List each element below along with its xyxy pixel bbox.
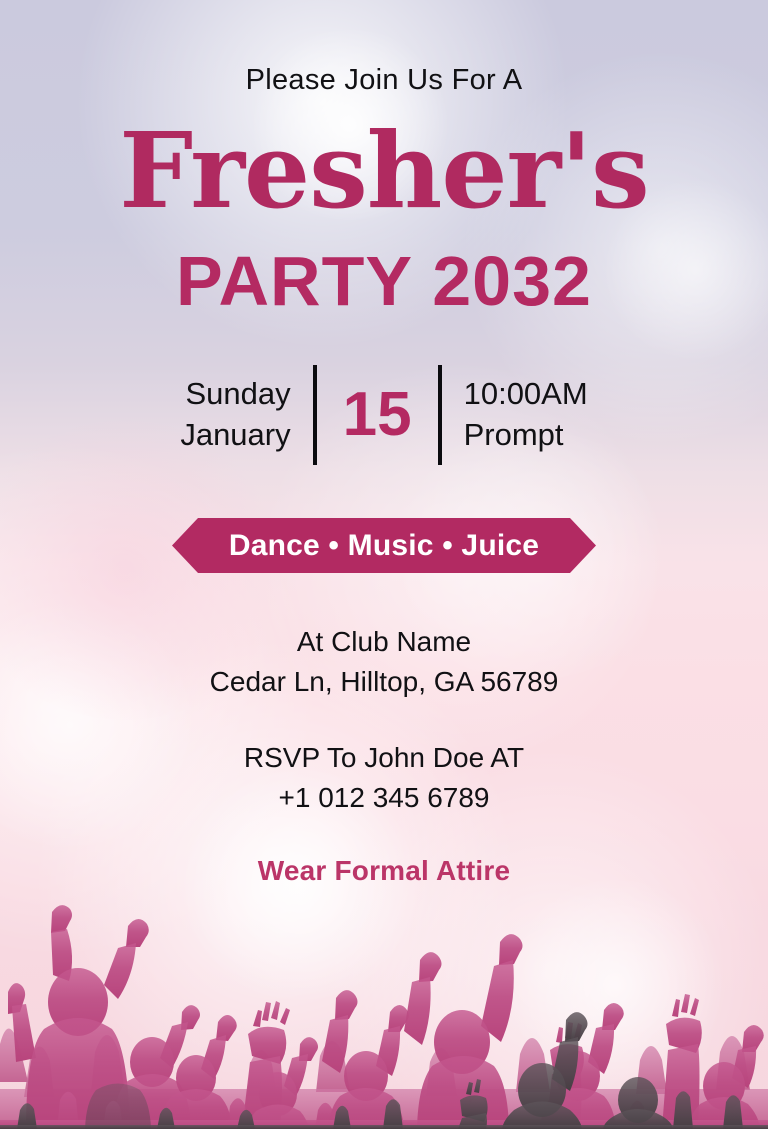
title-party-year: PARTY 2032 [0,246,768,316]
date-day-month: Sunday January [180,374,290,456]
date-month: January [180,415,290,456]
rsvp-phone: +1 012 345 6789 [0,778,768,818]
date-day-name: Sunday [180,374,290,415]
rsvp-contact: RSVP To John Doe AT [0,738,768,778]
activities-ribbon-label: Dance • Music • Juice [229,529,539,563]
activities-ribbon: Dance • Music • Juice [172,518,596,573]
event-time: 10:00AM [464,374,588,415]
pre-title: Please Join Us For A [0,64,768,97]
event-time-note: Prompt [464,415,588,456]
date-time-block: 10:00AM Prompt [464,374,588,456]
page-title: Fresher's [0,116,768,225]
venue-address: Cedar Ln, Hilltop, GA 56789 [0,662,768,702]
invitation-poster: Please Join Us For A Fresher's PARTY 203… [0,0,768,1129]
dress-code: Wear Formal Attire [0,855,768,887]
date-strip: Sunday January 15 10:00AM Prompt [0,365,768,465]
date-divider-right [438,365,442,465]
venue-name: At Club Name [0,622,768,662]
date-divider-left [313,365,317,465]
venue-block: At Club Name Cedar Ln, Hilltop, GA 56789 [0,622,768,702]
poster-content: Please Join Us For A Fresher's PARTY 203… [0,0,768,1129]
rsvp-block: RSVP To John Doe AT +1 012 345 6789 [0,738,768,818]
ribbon-wrap: Dance • Music • Juice [0,518,768,573]
date-day-number: 15 [339,384,416,446]
